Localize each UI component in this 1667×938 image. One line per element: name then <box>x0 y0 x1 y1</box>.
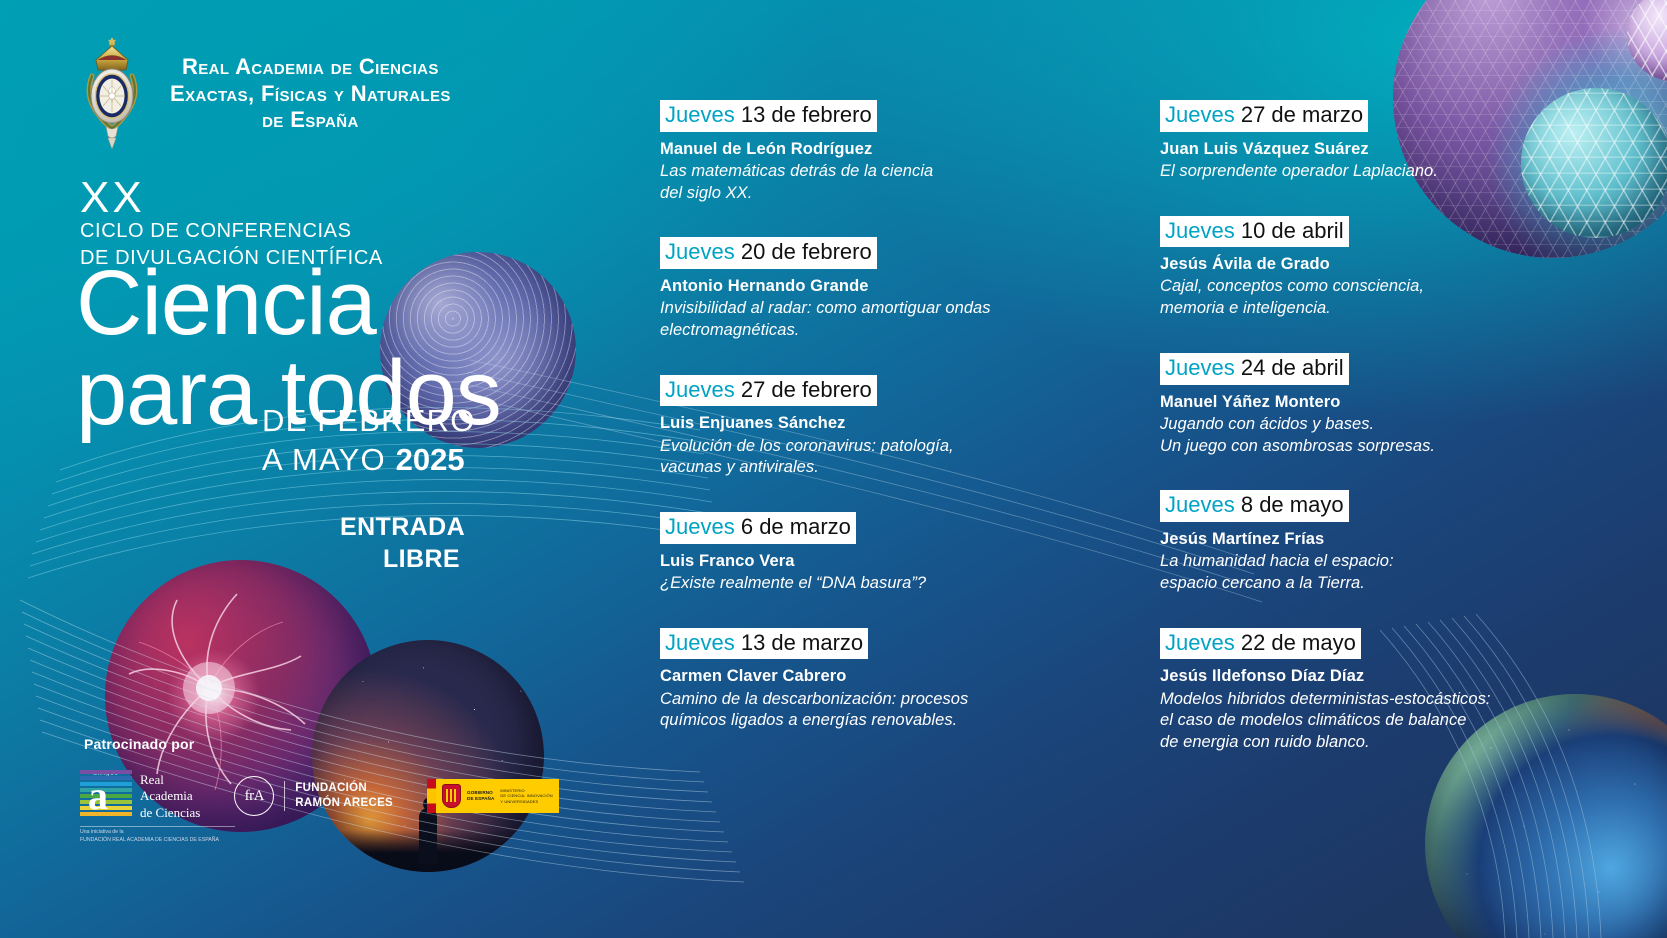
event-item[interactable]: Jueves 24 de abril Manuel Yáñez Montero … <box>1160 353 1580 457</box>
academy-name-line1: Real Academia de Ciencias <box>170 54 451 81</box>
event-speaker: Carmen Claver Cabrero <box>660 665 1080 687</box>
event-talk-line1: Camino de la descarbonización: procesos <box>660 689 1080 711</box>
date-range-months: A MAYO <box>262 442 396 477</box>
event-day-of-week: Jueves <box>1165 218 1235 243</box>
event-date: 24 de abril <box>1241 355 1344 380</box>
event-talk-line1: Cajal, conceptos como consciencia, <box>1160 276 1580 298</box>
poster-canvas: •• Real Academia de Ciencias Exactas, Fí… <box>0 0 1667 938</box>
date-range-year: 2025 <box>396 442 465 477</box>
event-date-badge: Jueves 27 de marzo <box>1160 100 1368 132</box>
event-day-of-week: Jueves <box>665 377 735 402</box>
amigos-word3: de Ciencias <box>140 805 200 821</box>
event-talk-line2: el caso de modelos climáticos de balance <box>1160 710 1580 732</box>
event-day-of-week: Jueves <box>1165 102 1235 127</box>
event-item[interactable]: Jueves 22 de mayo Jesús Ildefonso Díaz D… <box>1160 628 1580 754</box>
event-date: 27 de marzo <box>1241 102 1363 127</box>
fra-wordmark: FUNDACIÓN RAMÓN ARECES <box>295 781 393 811</box>
spain-coat-of-arms-icon <box>442 784 461 808</box>
event-item[interactable]: Jueves 8 de mayo Jesús Martínez Frías La… <box>1160 490 1580 594</box>
svg-text:•: • <box>94 85 95 89</box>
event-speaker: Manuel Yáñez Montero <box>1160 391 1580 413</box>
ministry-line3: Y UNIVERSIDADES <box>500 799 552 805</box>
event-date-badge: Jueves 8 de mayo <box>1160 490 1349 522</box>
fullerene-small-ball <box>1627 0 1667 81</box>
sponsors-row: a amigos Real Academia de Ciencias Una i… <box>80 770 559 822</box>
event-talk-line2: vacunas y antivirales. <box>660 457 1080 479</box>
fundacion-ramon-areces-logo[interactable]: frA FUNDACIÓN RAMÓN ARECES <box>234 776 393 816</box>
event-talk-line2: memoria e inteligencia. <box>1160 298 1580 320</box>
event-day-of-week: Jueves <box>665 514 735 539</box>
fra-name-line2: RAMÓN ARECES <box>295 796 393 811</box>
event-date-badge: Jueves 13 de febrero <box>660 100 877 132</box>
event-speaker: Luis Enjuanes Sánchez <box>660 412 1080 434</box>
event-talk-line1: El sorprendente operador Laplaciano. <box>1160 161 1580 183</box>
event-talk-line2: espacio cercano a la Tierra. <box>1160 573 1580 595</box>
amigos-footnote: Una iniciativa de la FUNDACIÓN REAL ACAD… <box>80 826 235 845</box>
event-date: 27 de febrero <box>741 377 872 402</box>
series-number: XX <box>80 176 145 220</box>
amigos-racefn-logo[interactable]: a amigos Real Academia de Ciencias Una i… <box>80 770 200 822</box>
amigos-footnote-line2: FUNDACIÓN REAL ACADEMIA DE CIENCIAS DE E… <box>80 837 235 845</box>
spain-flag-icon <box>427 779 436 813</box>
event-talk-line1: La humanidad hacia el espacio: <box>1160 551 1580 573</box>
page-title-line1: Ciencia <box>76 258 501 348</box>
event-date-badge: Jueves 10 de abril <box>1160 216 1349 248</box>
event-speaker: Jesús Martínez Frías <box>1160 528 1580 550</box>
event-speaker: Manuel de León Rodríguez <box>660 138 1080 160</box>
event-day-of-week: Jueves <box>665 102 735 127</box>
event-talk-line2: Un juego con asombrosas sorpresas. <box>1160 436 1580 458</box>
event-date: 8 de mayo <box>1241 492 1344 517</box>
academy-brand: •• Real Academia de Ciencias Exactas, Fí… <box>72 38 451 150</box>
event-item[interactable]: Jueves 13 de marzo Carmen Claver Cabrero… <box>660 628 1080 732</box>
event-day-of-week: Jueves <box>1165 630 1235 655</box>
event-speaker: Luis Franco Vera <box>660 550 1080 572</box>
event-talk-line1: Jugando con ácidos y bases. <box>1160 414 1580 436</box>
amigos-letter-a: a <box>88 778 108 814</box>
event-item[interactable]: Jueves 6 de marzo Luis Franco Vera ¿Exis… <box>660 512 1080 595</box>
event-talk-line1: Las matemáticas detrás de la ciencia <box>660 161 1080 183</box>
event-day-of-week: Jueves <box>665 239 735 264</box>
events-schedule: Jueves 13 de febrero Manuel de León Rodr… <box>660 100 1627 754</box>
event-talk-line3: de energia con ruido blanco. <box>1160 732 1580 754</box>
event-date-badge: Jueves 22 de mayo <box>1160 628 1361 660</box>
amigos-word2: Academia <box>140 788 200 804</box>
gobierno-de-espana-logo[interactable]: GOBIERNO DE ESPAÑA MINISTERIO DE CIENCIA… <box>427 779 559 813</box>
event-talk-line2: químicos ligados a energías renovables. <box>660 710 1080 732</box>
event-date: 13 de febrero <box>741 102 872 127</box>
amigos-footnote-line1: Una iniciativa de la <box>80 829 235 837</box>
event-talk-line1: Evolución de los coronavirus: patología, <box>660 436 1080 458</box>
royal-academy-crest-icon: •• <box>72 38 152 150</box>
event-date-badge: Jueves 27 de febrero <box>660 375 877 407</box>
academy-name-line3: de España <box>170 107 451 134</box>
fra-monogram-icon: frA <box>234 776 274 816</box>
event-date-badge: Jueves 24 de abril <box>1160 353 1349 385</box>
event-talk-line2: electromagnéticas. <box>660 320 1080 342</box>
event-day-of-week: Jueves <box>1165 355 1235 380</box>
event-speaker: Jesús Ildefonso Díaz Díaz <box>1160 665 1580 687</box>
series-date-range: DE FEBRERO A MAYO 2025 <box>262 402 476 480</box>
series-subtitle-line1: CICLO DE CONFERENCIAS <box>80 218 383 245</box>
event-speaker: Juan Luis Vázquez Suárez <box>1160 138 1580 160</box>
event-talk-line2: del siglo XX. <box>660 183 1080 205</box>
fra-divider <box>284 781 285 811</box>
event-day-of-week: Jueves <box>665 630 735 655</box>
night-sky-sphere-image <box>312 640 544 872</box>
amigos-word1: Real <box>140 772 200 788</box>
date-range-line1: DE FEBRERO <box>262 402 476 441</box>
event-talk-line1: Modelos hibridos deterministas-estocásti… <box>1160 689 1580 711</box>
events-column-left: Jueves 13 de febrero Manuel de León Rodr… <box>660 100 1080 754</box>
event-date-badge: Jueves 13 de marzo <box>660 628 868 660</box>
event-item[interactable]: Jueves 27 de marzo Juan Luis Vázquez Suá… <box>1160 100 1580 183</box>
event-day-of-week: Jueves <box>1165 492 1235 517</box>
event-item[interactable]: Jueves 10 de abril Jesús Ávila de Grado … <box>1160 216 1580 320</box>
admission-notice: ENTRADA LIBRE <box>340 512 460 575</box>
event-date: 6 de marzo <box>741 514 851 539</box>
event-talk-line1: Invisibilidad al radar: como amortiguar … <box>660 298 1080 320</box>
admission-line1: ENTRADA <box>340 512 460 544</box>
svg-text:•: • <box>127 85 128 89</box>
event-item[interactable]: Jueves 20 de febrero Antonio Hernando Gr… <box>660 237 1080 341</box>
amigos-logomark-icon: a amigos <box>80 770 132 822</box>
amigos-wordmark: Real Academia de Ciencias <box>140 770 200 821</box>
admission-line2: LIBRE <box>340 544 460 576</box>
fra-name-line1: FUNDACIÓN <box>295 781 393 796</box>
gobierno-logo-body: GOBIERNO DE ESPAÑA MINISTERIO DE CIENCIA… <box>436 779 559 813</box>
event-item[interactable]: Jueves 27 de febrero Luis Enjuanes Sánch… <box>660 375 1080 479</box>
academy-name-line2: Exactas, Físicas y Naturales <box>170 81 451 108</box>
event-date: 20 de febrero <box>741 239 872 264</box>
event-date-badge: Jueves 20 de febrero <box>660 237 877 269</box>
event-date-badge: Jueves 6 de marzo <box>660 512 856 544</box>
gobierno-line2: DE ESPAÑA <box>467 796 494 802</box>
event-date: 22 de mayo <box>1241 630 1356 655</box>
sponsors-label: Patrocinado por <box>84 736 194 752</box>
gobierno-text: GOBIERNO DE ESPAÑA <box>467 790 494 802</box>
event-date: 13 de marzo <box>741 630 863 655</box>
date-range-line2: A MAYO 2025 <box>262 441 476 480</box>
event-speaker: Jesús Ávila de Grado <box>1160 253 1580 275</box>
event-item[interactable]: Jueves 13 de febrero Manuel de León Rodr… <box>660 100 1080 204</box>
event-date: 10 de abril <box>1241 218 1344 243</box>
events-column-right: Jueves 27 de marzo Juan Luis Vázquez Suá… <box>1160 100 1580 754</box>
academy-name: Real Academia de Ciencias Exactas, Físic… <box>170 54 451 134</box>
ministry-text: MINISTERIO DE CIENCIA, INNOVACIÓN Y UNIV… <box>500 788 552 805</box>
event-talk-line1: ¿Existe realmente el “DNA basura”? <box>660 573 1080 595</box>
ministry-line2: DE CIENCIA, INNOVACIÓN <box>500 793 552 799</box>
event-speaker: Antonio Hernando Grande <box>660 275 1080 297</box>
